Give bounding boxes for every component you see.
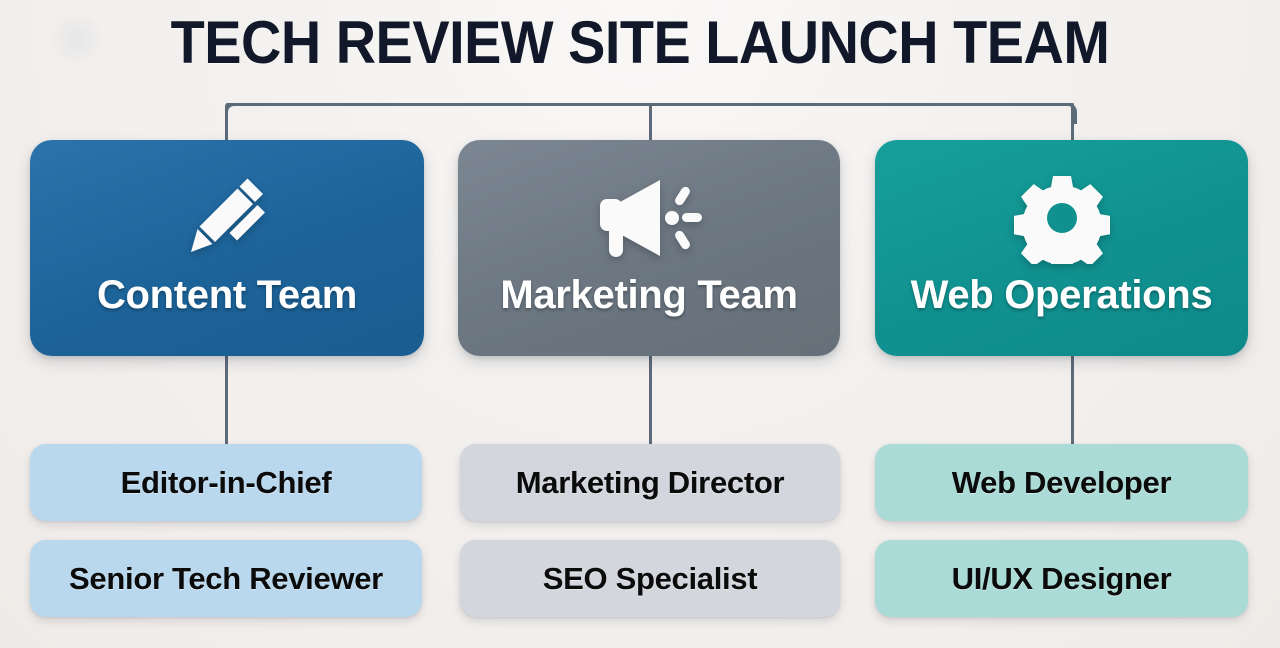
pen-icon [177,172,277,264]
megaphone-icon [590,172,708,264]
connector-bus-right [650,103,1074,106]
connector-bus-left [226,103,650,106]
role-box-web-developer[interactable]: Web Developer [875,444,1248,521]
role-label: Marketing Director [516,465,785,501]
role-label: Senior Tech Reviewer [69,561,383,597]
team-card-label: Marketing Team [500,272,797,318]
connector-marketing-to-roles [649,352,652,446]
role-box-editor-in-chief[interactable]: Editor-in-Chief [30,444,422,521]
team-card-marketing[interactable]: Marketing Team [458,140,840,356]
role-box-senior-tech-reviewer[interactable]: Senior Tech Reviewer [30,540,422,617]
team-card-label: Web Operations [911,272,1213,318]
role-box-seo-specialist[interactable]: SEO Specialist [460,540,840,617]
role-label: UI/UX Designer [952,561,1172,597]
connector-content-to-roles [225,352,228,446]
team-card-webops[interactable]: Web Operations [875,140,1248,356]
page-title: TECH REVIEW SITE LAUNCH TEAM [45,9,1235,77]
gear-icon [1014,172,1110,264]
role-label: SEO Specialist [543,561,758,597]
role-box-marketing-director[interactable]: Marketing Director [460,444,840,521]
role-box-ui-ux-designer[interactable]: UI/UX Designer [875,540,1248,617]
org-chart-canvas: TECH REVIEW SITE LAUNCH TEAM Content Tea… [0,0,1280,648]
role-label: Editor-in-Chief [121,465,332,501]
team-card-label: Content Team [97,272,357,318]
team-card-content[interactable]: Content Team [30,140,424,356]
role-label: Web Developer [952,465,1172,501]
connector-webops-to-roles [1071,352,1074,446]
connector-elbow-left [225,103,246,124]
